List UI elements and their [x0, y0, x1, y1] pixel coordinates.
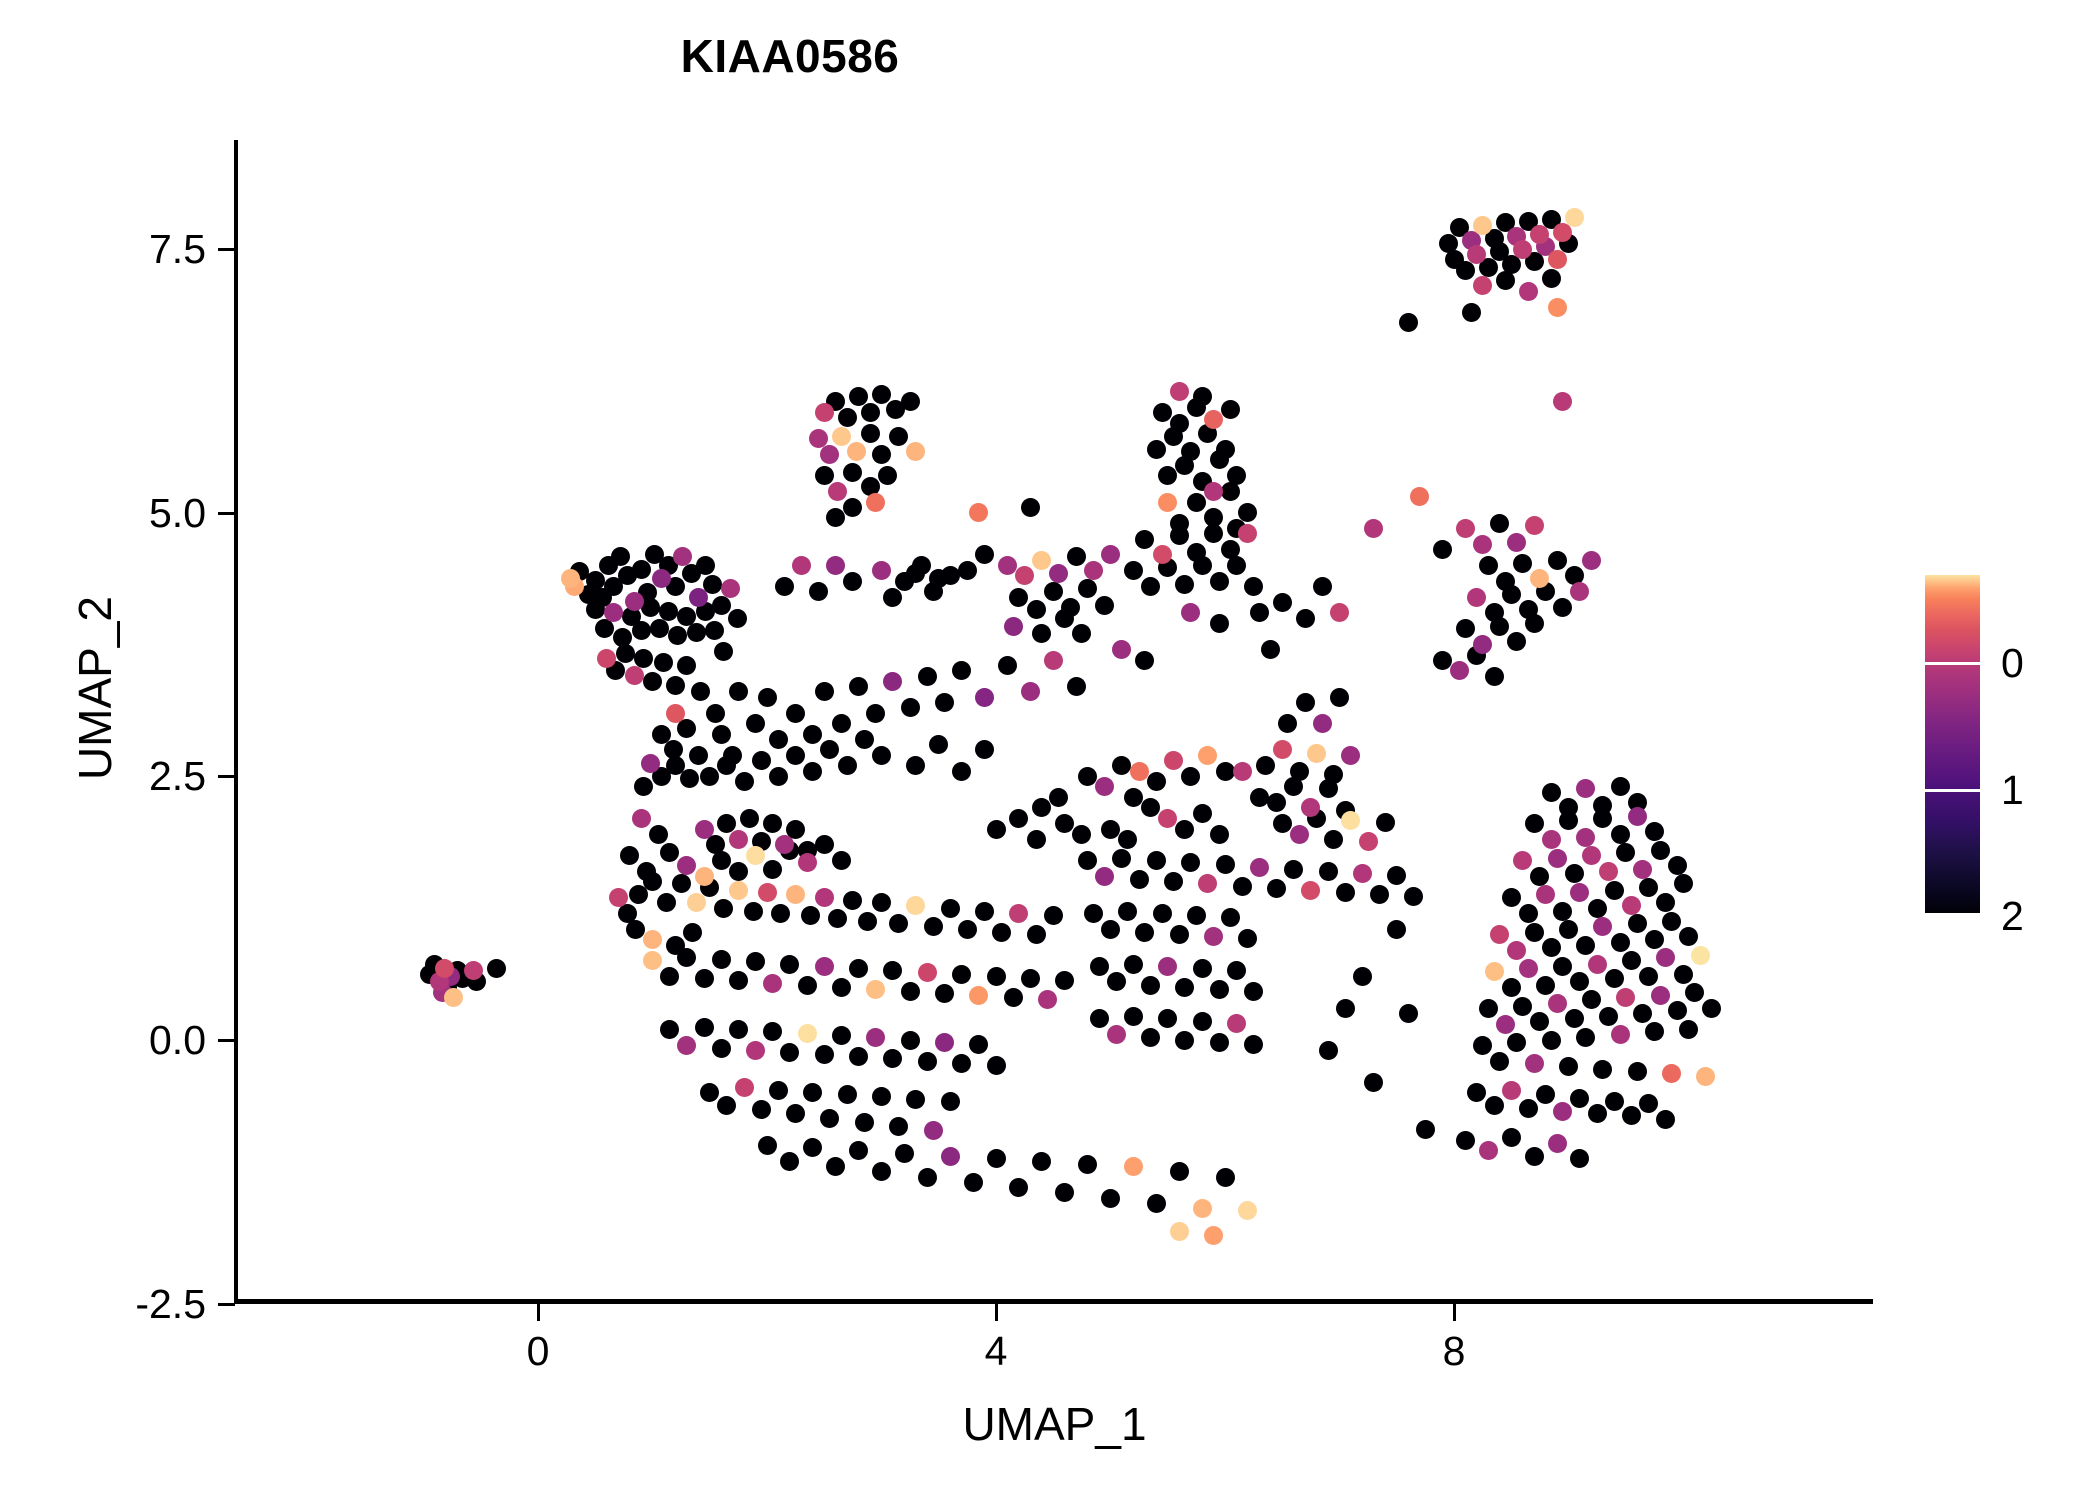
scatter-point	[1072, 825, 1091, 844]
scatter-point	[1175, 1031, 1194, 1050]
scatter-point	[1656, 893, 1675, 912]
scatter-point	[1055, 609, 1074, 628]
scatter-point	[832, 978, 851, 997]
scatter-point	[735, 1078, 754, 1097]
scatter-point	[1135, 923, 1154, 942]
scatter-point	[1570, 883, 1589, 902]
scatter-point	[1130, 762, 1149, 781]
scatter-point	[1616, 843, 1635, 862]
scatter-point	[1525, 1054, 1544, 1073]
scatter-point	[1633, 860, 1652, 879]
scatter-point	[1210, 825, 1229, 844]
scatter-point	[625, 666, 644, 685]
scatter-point	[729, 682, 748, 701]
scatter-point	[1576, 1028, 1595, 1047]
scatter-point	[717, 1096, 736, 1115]
scatter-point	[643, 672, 662, 691]
scatter-point	[918, 667, 937, 686]
scatter-point	[1101, 820, 1120, 839]
scatter-point	[1112, 849, 1131, 868]
scatter-point	[1502, 978, 1521, 997]
scatter-point	[952, 1054, 971, 1073]
scatter-point	[1009, 809, 1028, 828]
scatter-point	[918, 963, 937, 982]
scatter-point	[958, 561, 977, 580]
y-axis-label: UMAP_2	[67, 288, 123, 1088]
scatter-point	[1502, 888, 1521, 907]
scatter-point	[1496, 271, 1515, 290]
scatter-point	[1216, 1168, 1235, 1187]
scatter-point	[1502, 585, 1521, 604]
scatter-point	[1175, 575, 1194, 594]
scatter-point	[1095, 867, 1114, 886]
scatter-point	[1633, 1004, 1652, 1023]
scatter-point	[1273, 814, 1292, 833]
scatter-point	[906, 1090, 925, 1109]
scatter-point	[866, 1028, 885, 1047]
scatter-point	[906, 442, 925, 461]
scatter-point	[1542, 269, 1561, 288]
y-tick-mark	[218, 512, 235, 515]
scatter-point	[1032, 1152, 1051, 1171]
scatter-point	[1319, 862, 1338, 881]
scatter-point	[1507, 632, 1526, 651]
scatter-point	[1216, 855, 1235, 874]
scatter-point	[1467, 588, 1486, 607]
scatter-point	[1645, 930, 1664, 949]
scatter-point	[695, 820, 714, 839]
scatter-point	[637, 862, 656, 881]
scatter-point	[1032, 551, 1051, 570]
scatter-point	[1525, 1147, 1544, 1166]
scatter-point	[1593, 1060, 1612, 1079]
scatter-point	[1296, 693, 1315, 712]
scatter-point	[1359, 832, 1378, 851]
scatter-point	[687, 623, 706, 642]
scatter-point	[1519, 1099, 1538, 1118]
scatter-point	[1645, 1022, 1664, 1041]
scatter-point	[798, 976, 817, 995]
scatter-point	[700, 1083, 719, 1102]
scatter-point	[1141, 1028, 1160, 1047]
scatter-point	[1078, 579, 1097, 598]
scatter-point	[838, 408, 857, 427]
scatter-point	[1124, 1007, 1143, 1026]
scatter-point	[712, 725, 731, 744]
scatter-point	[660, 1020, 679, 1039]
scatter-point	[1193, 387, 1212, 406]
scatter-point	[625, 592, 644, 611]
scatter-point	[1542, 1031, 1561, 1050]
scatter-point	[1181, 853, 1200, 872]
scatter-point	[858, 912, 877, 931]
scatter-point	[826, 556, 845, 575]
scatter-point	[832, 851, 851, 870]
scatter-point	[1593, 917, 1612, 936]
scatter-point	[729, 830, 748, 849]
scatter-point	[1639, 878, 1658, 897]
scatter-point	[1611, 777, 1630, 796]
scatter-point	[941, 1147, 960, 1166]
scatter-point	[792, 556, 811, 575]
scatter-point	[1078, 767, 1097, 786]
scatter-point	[1536, 885, 1555, 904]
scatter-point	[1387, 920, 1406, 939]
scatter-point	[660, 843, 679, 862]
scatter-point	[872, 893, 891, 912]
scatter-point	[1679, 927, 1698, 946]
scatter-point	[1187, 493, 1206, 512]
y-tick-mark	[218, 775, 235, 778]
scatter-point	[1158, 809, 1177, 828]
scatter-point	[1009, 588, 1028, 607]
scatter-point	[941, 566, 960, 585]
scatter-point	[657, 893, 676, 912]
scatter-point	[1216, 762, 1235, 781]
scatter-point	[1158, 1009, 1177, 1028]
scatter-point	[769, 730, 788, 749]
scatter-point	[650, 619, 669, 638]
scatter-point	[1193, 804, 1212, 823]
scatter-point	[786, 1104, 805, 1123]
scatter-point	[895, 1144, 914, 1163]
scatter-point	[1004, 617, 1023, 636]
scatter-point	[1049, 788, 1068, 807]
scatter-point	[487, 959, 506, 978]
scatter-point	[677, 719, 696, 738]
scatter-point	[975, 740, 994, 759]
scatter-point	[1153, 904, 1172, 923]
scatter-point	[1210, 572, 1229, 591]
scatter-point	[1193, 1012, 1212, 1031]
x-tick-mark	[995, 1304, 998, 1321]
scatter-point	[889, 427, 908, 446]
scatter-point	[1210, 1033, 1229, 1052]
scatter-point	[705, 621, 724, 640]
scatter-point	[803, 725, 822, 744]
scatter-point	[1456, 619, 1475, 638]
scatter-point	[1565, 208, 1584, 227]
scatter-point	[1485, 667, 1504, 686]
scatter-point	[1559, 920, 1578, 939]
scatter-point	[1227, 1014, 1246, 1033]
scatter-point	[1685, 983, 1704, 1002]
scatter-point	[935, 1033, 954, 1052]
scatter-point	[969, 986, 988, 1005]
scatter-point	[1473, 276, 1492, 295]
scatter-point	[586, 571, 605, 590]
scatter-point	[832, 1026, 851, 1045]
scatter-point	[672, 874, 691, 893]
scatter-point	[712, 1039, 731, 1058]
scatter-point	[872, 445, 891, 464]
scatter-point	[1548, 1134, 1567, 1153]
scatter-point	[1210, 980, 1229, 999]
scatter-point	[1027, 925, 1046, 944]
scatter-point	[1542, 830, 1561, 849]
scatter-point	[1067, 677, 1086, 696]
scatter-point	[1513, 240, 1532, 259]
scatter-point	[1147, 851, 1166, 870]
scatter-point	[815, 1045, 834, 1064]
scatter-point	[1124, 1157, 1143, 1176]
scatter-point	[1112, 640, 1131, 659]
scatter-point	[1193, 556, 1212, 575]
scatter-point	[1124, 788, 1143, 807]
scatter-point	[1044, 651, 1063, 670]
scatter-point	[1101, 545, 1120, 564]
scatter-point	[1095, 596, 1114, 615]
scatter-point	[1021, 969, 1040, 988]
scatter-point	[1622, 896, 1641, 915]
scatter-point	[847, 442, 866, 461]
scatter-point	[728, 609, 747, 628]
scatter-point	[780, 1043, 799, 1062]
scatter-point	[689, 746, 708, 765]
scatter-point	[1221, 908, 1240, 927]
scatter-point	[1433, 651, 1452, 670]
scatter-point	[849, 1047, 868, 1066]
scatter-point	[872, 1087, 891, 1106]
scatter-point	[1548, 298, 1567, 317]
scatter-point	[752, 1100, 771, 1119]
scatter-point	[889, 1117, 908, 1136]
scatter-point	[1170, 382, 1189, 401]
scatter-point	[1525, 516, 1544, 535]
scatter-point	[666, 936, 685, 955]
scatter-point	[883, 588, 902, 607]
scatter-point	[1049, 564, 1068, 583]
scatter-point	[769, 767, 788, 786]
scatter-point	[1296, 609, 1315, 628]
x-tick-label: 8	[1384, 1326, 1524, 1376]
scatter-point	[775, 577, 794, 596]
plot-title-text: KIAA0586	[681, 28, 900, 84]
scatter-point	[1548, 849, 1567, 868]
scatter-point	[1233, 877, 1252, 896]
scatter-point	[832, 714, 851, 733]
scatter-point	[987, 967, 1006, 986]
scatter-point	[1611, 1025, 1630, 1044]
scatter-point	[683, 923, 702, 942]
scatter-point	[1216, 440, 1235, 459]
scatter-point	[735, 772, 754, 791]
scatter-point	[1204, 410, 1223, 429]
scatter-point	[1141, 577, 1160, 596]
scatter-point	[668, 626, 687, 645]
scatter-point	[1187, 906, 1206, 925]
scatter-point	[1233, 762, 1252, 781]
scatter-point	[878, 466, 897, 485]
scatter-point	[1256, 756, 1275, 775]
scatter-point	[659, 602, 678, 621]
scatter-point	[1273, 740, 1292, 759]
scatter-point	[780, 1152, 799, 1171]
scatter-point	[815, 957, 834, 976]
scatter-point	[1467, 1083, 1486, 1102]
scatter-point	[1336, 883, 1355, 902]
scatter-point	[1284, 860, 1303, 879]
scatter-point	[1170, 526, 1189, 545]
scatter-point	[677, 656, 696, 675]
scatter-point	[975, 688, 994, 707]
scatter-point	[1399, 1004, 1418, 1023]
scatter-point	[952, 762, 971, 781]
scatter-point	[1204, 1226, 1223, 1245]
scatter-point	[1605, 969, 1624, 988]
scatter-point	[744, 902, 763, 921]
scatter-point	[769, 1081, 788, 1100]
scatter-point	[952, 661, 971, 680]
scatter-point	[758, 688, 777, 707]
scatter-point	[712, 851, 731, 870]
scatter-point	[1462, 303, 1481, 322]
scatter-point	[1158, 493, 1177, 512]
scatter-point	[700, 767, 719, 786]
scatter-point	[649, 825, 668, 844]
scatter-point	[952, 965, 971, 984]
scatter-point	[1696, 1067, 1715, 1086]
y-tick-mark	[218, 248, 235, 251]
scatter-point	[1674, 874, 1693, 893]
scatter-point	[1290, 825, 1309, 844]
scatter-point	[1267, 879, 1286, 898]
scatter-point	[1364, 1073, 1383, 1092]
scatter-point	[1548, 250, 1567, 269]
scatter-point	[1588, 955, 1607, 974]
scatter-point	[1015, 566, 1034, 585]
scatter-point	[1055, 1183, 1074, 1202]
scatter-point	[803, 762, 822, 781]
scatter-point	[780, 955, 799, 974]
scatter-point	[1307, 744, 1326, 763]
scatter-point	[918, 1052, 937, 1071]
scatter-point	[1107, 972, 1126, 991]
scatter-point	[1181, 603, 1200, 622]
scatter-point	[1525, 814, 1544, 833]
scatter-point	[987, 1056, 1006, 1075]
scatter-point	[987, 820, 1006, 839]
scatter-point	[763, 974, 782, 993]
scatter-point	[1250, 603, 1269, 622]
scatter-point	[1519, 282, 1538, 301]
scatter-point	[1193, 959, 1212, 978]
scatter-point	[798, 853, 817, 872]
scatter-point	[1507, 533, 1526, 552]
scatter-point	[695, 867, 714, 886]
scatter-point	[1250, 858, 1269, 877]
scatter-point	[626, 920, 645, 939]
scatter-point	[1639, 967, 1658, 986]
x-axis-line	[234, 1299, 1873, 1304]
scatter-point	[826, 508, 845, 527]
scatter-point	[1170, 414, 1189, 433]
scatter-point	[1084, 561, 1103, 580]
scatter-point	[798, 1024, 817, 1043]
scatter-point	[866, 704, 885, 723]
scatter-point	[901, 982, 920, 1001]
scatter-point	[1530, 867, 1549, 886]
scatter-point	[1364, 519, 1383, 538]
scatter-point	[786, 746, 805, 765]
colorbar-tick-mark	[1925, 789, 1980, 792]
scatter-point	[987, 1149, 1006, 1168]
x-axis-label: UMAP_1	[236, 1396, 1873, 1452]
scatter-point	[1416, 1120, 1435, 1139]
scatter-point	[1198, 874, 1217, 893]
scatter-point	[975, 545, 994, 564]
scatter-point	[717, 756, 736, 775]
scatter-point	[1067, 547, 1086, 566]
scatter-point	[849, 1141, 868, 1160]
scatter-point	[1078, 1155, 1097, 1174]
scatter-point	[1599, 862, 1618, 881]
x-tick-mark	[1453, 1304, 1456, 1321]
scatter-point	[771, 904, 790, 923]
scatter-point	[1507, 1033, 1526, 1052]
scatter-point	[964, 1173, 983, 1192]
scatter-point	[1485, 962, 1504, 981]
scatter-point	[906, 896, 925, 915]
scatter-point	[1090, 957, 1109, 976]
scatter-point	[1576, 936, 1595, 955]
scatter-point	[1656, 1110, 1675, 1129]
scatter-point	[838, 1085, 857, 1104]
scatter-point	[1204, 482, 1223, 501]
scatter-point	[1158, 957, 1177, 976]
y-tick-label: 0.0	[40, 1016, 206, 1064]
scatter-point	[1656, 948, 1675, 967]
scatter-point	[1193, 1199, 1212, 1218]
scatter-point	[1227, 466, 1246, 485]
scatter-point	[1175, 820, 1194, 839]
scatter-point	[843, 891, 862, 910]
scatter-point	[1032, 798, 1051, 817]
y-tick-label: 7.5	[40, 225, 206, 273]
scatter-point	[620, 846, 639, 865]
scatter-point	[958, 920, 977, 939]
scatter-point	[786, 704, 805, 723]
scatter-point	[1588, 899, 1607, 918]
y-tick-mark	[218, 1303, 235, 1306]
colorbar-gradient	[1925, 575, 1980, 916]
scatter-point	[740, 809, 759, 828]
scatter-point	[666, 704, 685, 723]
scatter-point	[803, 1083, 822, 1102]
scatter-point	[1576, 828, 1595, 847]
scatter-point	[1536, 1085, 1555, 1104]
scatter-point	[924, 917, 943, 936]
scatter-point	[1553, 902, 1572, 921]
scatter-point	[1639, 1094, 1658, 1113]
scatter-point	[680, 769, 699, 788]
scatter-point	[1141, 798, 1160, 817]
colorbar-tick-label: 2	[2001, 892, 2024, 940]
scatter-point	[801, 906, 820, 925]
scatter-point	[918, 1168, 937, 1187]
scatter-point	[1507, 941, 1526, 960]
scatter-point	[866, 493, 885, 512]
scatter-point	[1628, 807, 1647, 826]
scatter-point	[1170, 1222, 1189, 1241]
scatter-point	[969, 1035, 988, 1054]
scatter-point	[1055, 971, 1074, 990]
scatter-point	[1456, 261, 1475, 280]
scatter-point	[1044, 906, 1063, 925]
scatter-point	[924, 582, 943, 601]
scatter-point	[1530, 1012, 1549, 1031]
scatter-point	[1204, 927, 1223, 946]
